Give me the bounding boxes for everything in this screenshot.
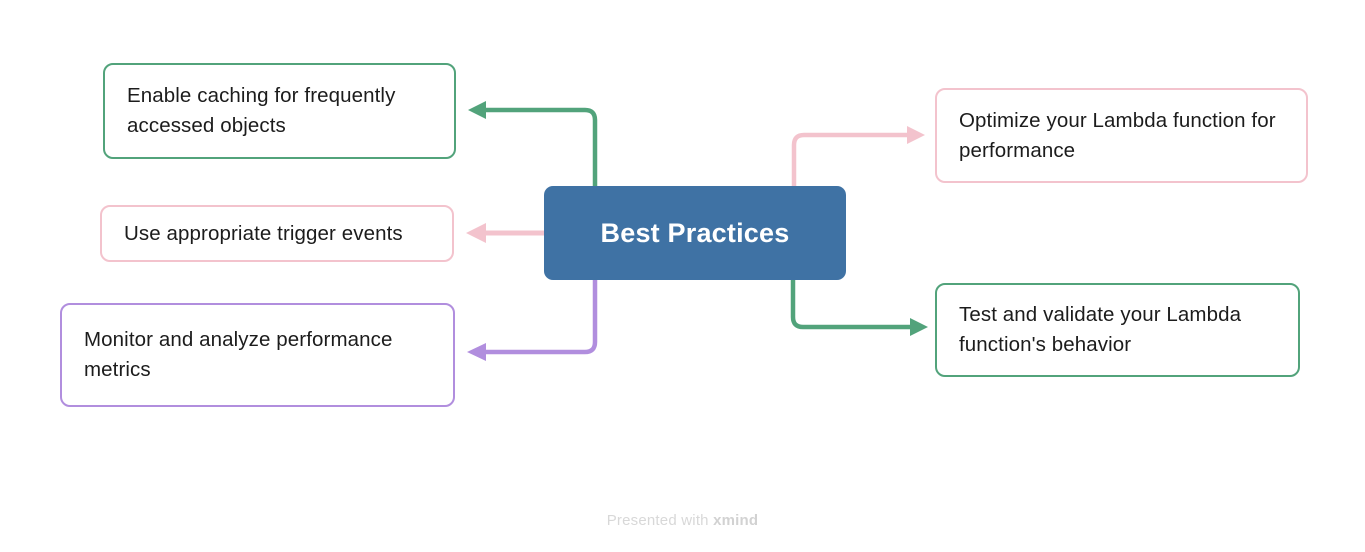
connector-optimize (794, 126, 925, 186)
branch-node-trigger[interactable]: Use appropriate trigger events (100, 205, 454, 262)
branch-node-optimize[interactable]: Optimize your Lambda function for perfor… (935, 88, 1308, 183)
branch-label-cache: Enable caching for frequently accessed o… (127, 81, 432, 141)
connector-cache (468, 101, 595, 186)
central-topic-label: Best Practices (601, 218, 790, 249)
branch-node-test[interactable]: Test and validate your Lambda function's… (935, 283, 1300, 377)
watermark-prefix: Presented with (607, 512, 713, 529)
branch-label-monitor: Monitor and analyze performance metrics (84, 325, 431, 385)
branch-node-cache[interactable]: Enable caching for frequently accessed o… (103, 63, 456, 159)
branch-label-trigger: Use appropriate trigger events (124, 219, 403, 249)
branch-label-optimize: Optimize your Lambda function for perfor… (959, 106, 1284, 166)
branch-node-monitor[interactable]: Monitor and analyze performance metrics (60, 303, 455, 407)
connector-test (793, 280, 928, 336)
watermark-brand: xmind (713, 512, 758, 529)
central-topic-node[interactable]: Best Practices (544, 186, 846, 280)
connector-monitor (467, 280, 595, 361)
mindmap-canvas: Enable caching for frequently accessed o… (0, 0, 1365, 552)
xmind-watermark: Presented with xmind (0, 512, 1365, 529)
connector-trigger (466, 223, 544, 243)
branch-label-test: Test and validate your Lambda function's… (959, 300, 1276, 360)
